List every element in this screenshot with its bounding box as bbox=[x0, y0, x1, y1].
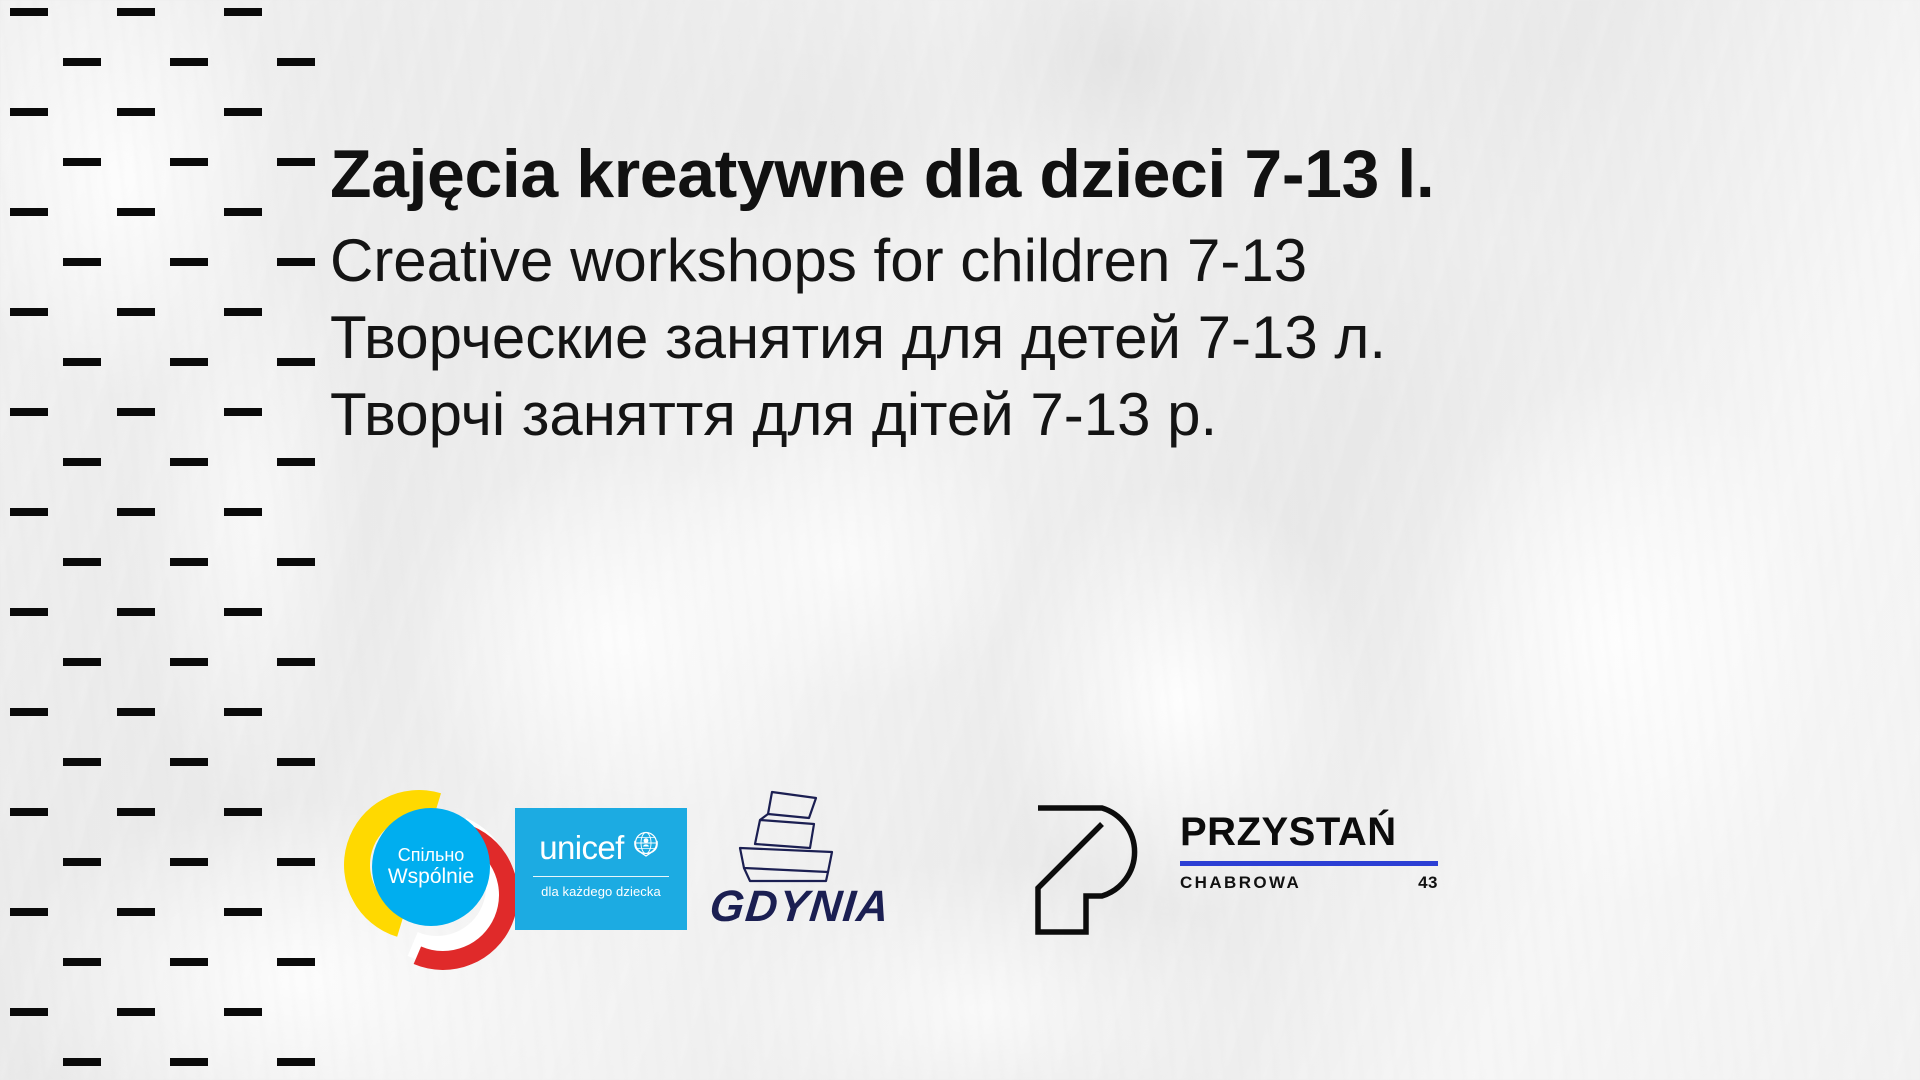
przystan-p-mark-icon bbox=[1030, 800, 1162, 945]
subtitle-english: Creative workshops for children 7-13 bbox=[330, 226, 1920, 297]
spilno-disc: Спільно Wspólnie bbox=[372, 808, 490, 926]
headline-block: Zajęcia kreatywne dla dzieci 7-13 l. Cre… bbox=[330, 136, 1920, 457]
unicef-tagline: dla każdego dziecka bbox=[529, 884, 673, 899]
gdynia-wordmark: GDYNIA bbox=[707, 882, 892, 932]
spilno-label-pl: Wspólnie bbox=[388, 865, 474, 889]
przystan-subline: CHABROWA 43 bbox=[1180, 873, 1438, 893]
gdynia-city-logo: GDYNIA bbox=[710, 786, 890, 966]
przystan-title: PRZYSTAŃ bbox=[1180, 812, 1438, 852]
przystan-text-lockup: PRZYSTAŃ CHABROWA 43 bbox=[1180, 812, 1438, 893]
przystan-chabrowa-logo: PRZYSTAŃ CHABROWA 43 bbox=[1030, 794, 1450, 964]
subtitle-ukrainian: Творчі заняття для дітей 7-13 р. bbox=[330, 380, 1920, 451]
przystan-divider bbox=[1180, 861, 1438, 866]
unicef-logo: unicef dla bbox=[515, 808, 687, 930]
poster-canvas: Zajęcia kreatywne dla dzieci 7-13 l. Cre… bbox=[0, 0, 1920, 1080]
page-title: Zajęcia kreatywne dla dzieci 7-13 l. bbox=[330, 136, 1920, 212]
unicef-wordmark: unicef bbox=[539, 831, 623, 864]
spilno-wspolnie-logo: Спільно Wspólnie bbox=[340, 786, 515, 971]
unicef-divider bbox=[533, 876, 669, 877]
un-emblem-icon bbox=[629, 828, 663, 867]
spilno-label-uk: Спільно bbox=[398, 845, 465, 866]
partner-logo-strip: Спільно Wspólnie unicef bbox=[330, 786, 1710, 986]
przystan-street: CHABROWA bbox=[1180, 873, 1301, 893]
subtitle-russian: Творческие занятия для детей 7-13 л. bbox=[330, 303, 1920, 374]
unicef-wordmark-row: unicef bbox=[529, 828, 673, 867]
przystan-number: 43 bbox=[1418, 873, 1438, 893]
